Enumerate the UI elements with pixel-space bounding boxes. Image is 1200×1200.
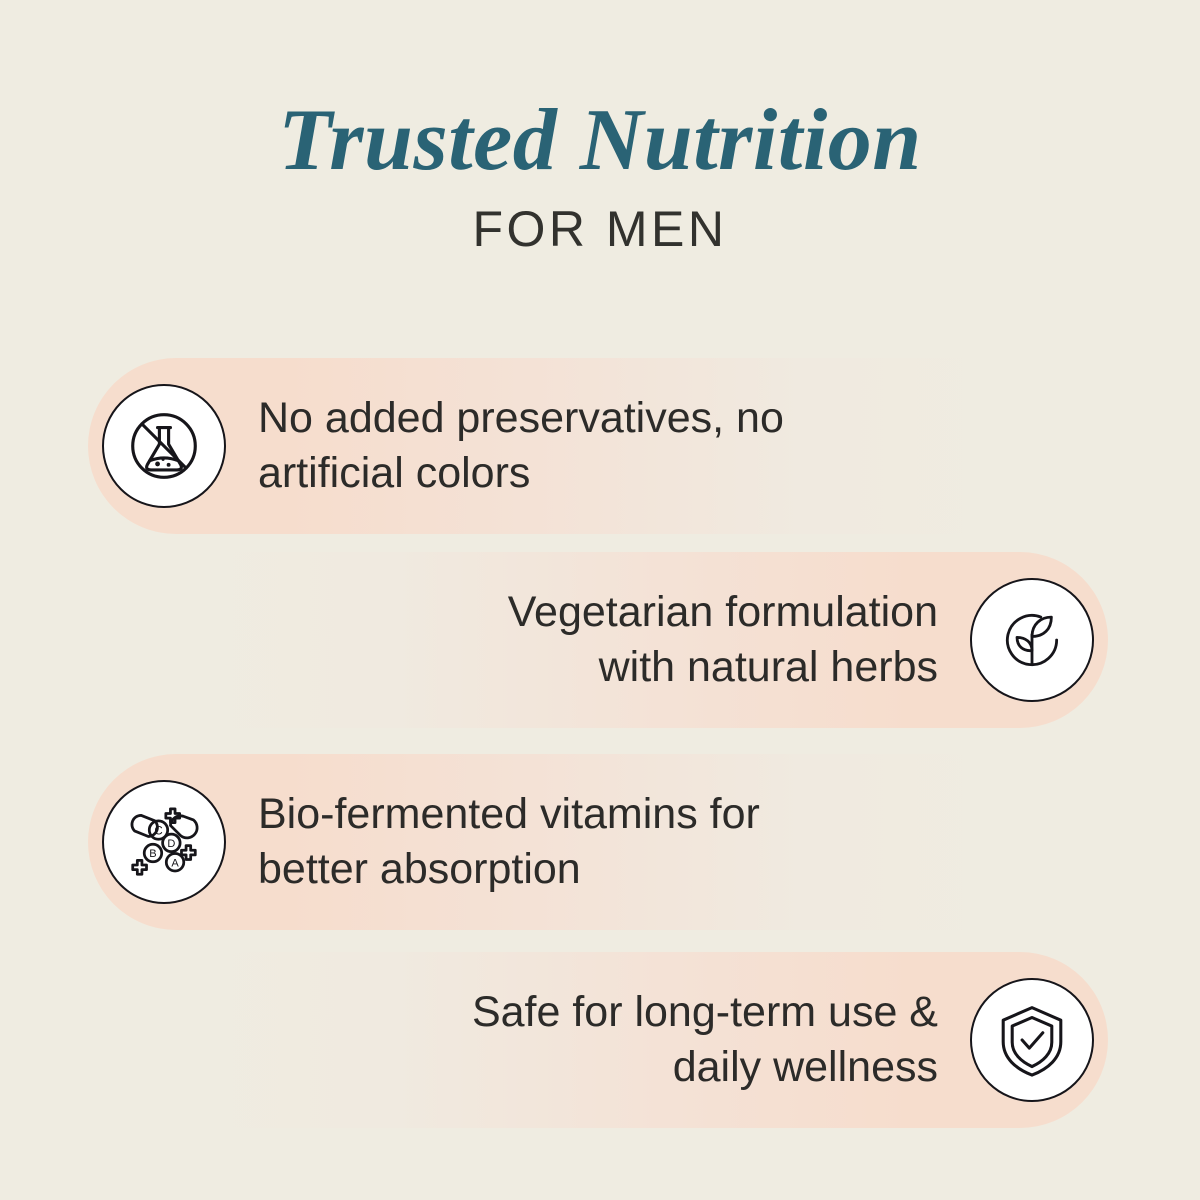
feature-text: No added preservatives, no artificial co…	[258, 391, 784, 501]
feature-text: Vegetarian formulation with natural herb…	[508, 585, 938, 695]
feature-list: No added preservatives, no artificial co…	[0, 330, 1200, 1160]
feature-text: Safe for long-term use & daily wellness	[472, 985, 938, 1095]
feature-row: C D B A Bio-fermented vitamins for bette…	[88, 754, 1088, 930]
feature-row: Vegetarian formulation with natural herb…	[108, 552, 1108, 728]
header: Trusted Nutrition FOR MEN	[0, 0, 1200, 254]
feature-text: Bio-fermented vitamins for better absorp…	[258, 787, 760, 897]
vitamin-pills-icon: C D B A	[102, 780, 226, 904]
vitamin-letter-d: D	[167, 838, 175, 850]
feature-row: Safe for long-term use & daily wellness	[108, 952, 1108, 1128]
page-subtitle: FOR MEN	[0, 204, 1200, 254]
feature-row: No added preservatives, no artificial co…	[88, 358, 1088, 534]
no-chemicals-flask-icon	[102, 384, 226, 508]
vitamin-letter-b: B	[149, 848, 156, 860]
vitamin-letter-c: C	[154, 825, 162, 837]
vitamin-letter-a: A	[171, 857, 179, 869]
page-title: Trusted Nutrition	[0, 96, 1200, 186]
plant-sprout-icon	[970, 578, 1094, 702]
shield-check-icon	[970, 978, 1094, 1102]
